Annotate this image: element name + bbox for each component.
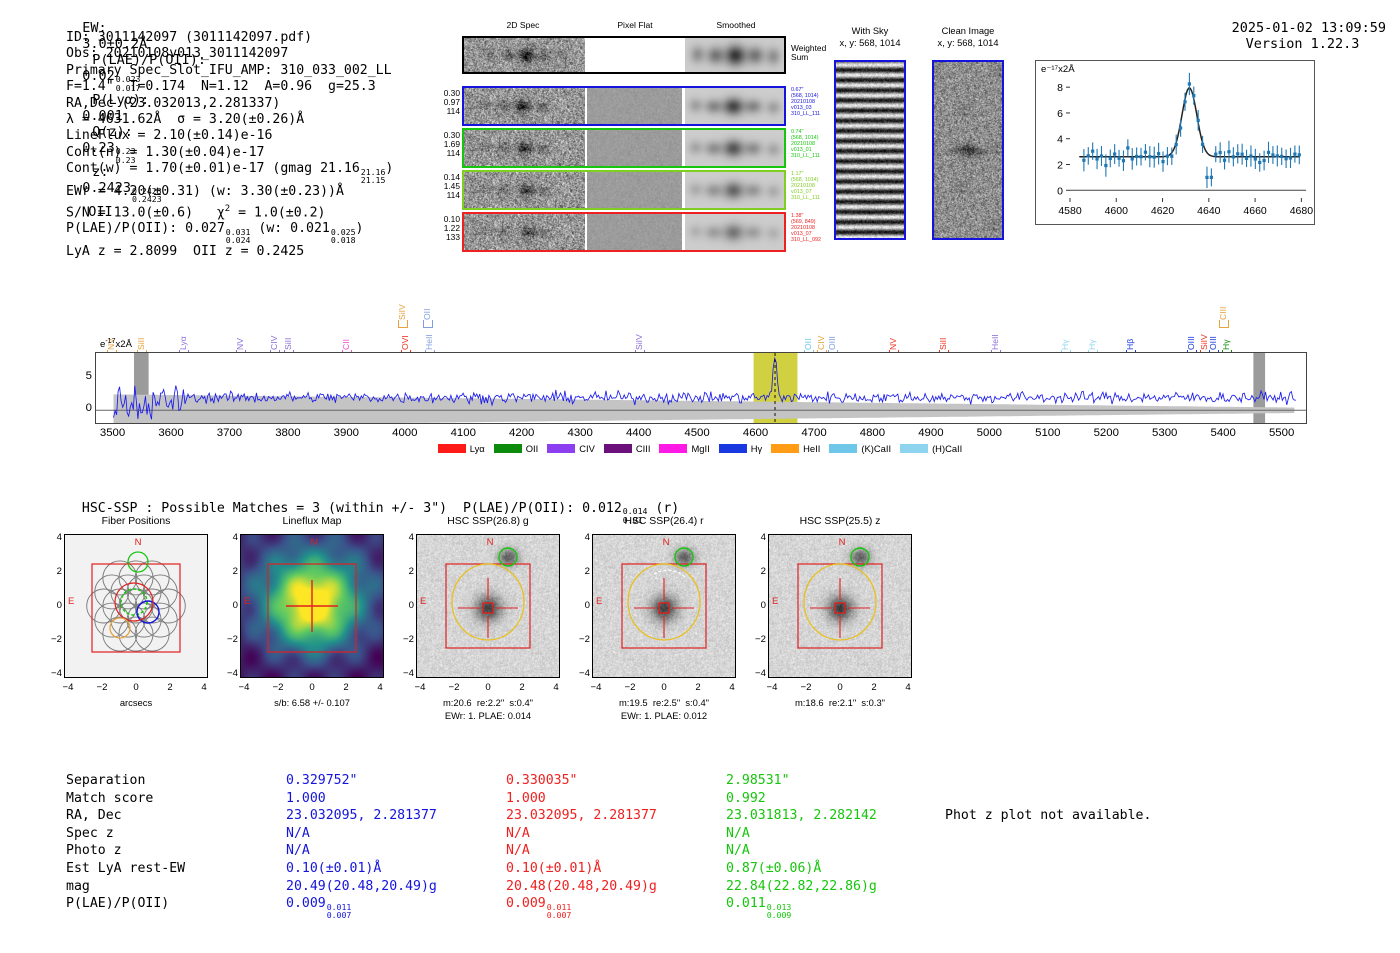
line-marker-label: SiIV [634,308,644,350]
datetime: 2025-01-02 13:09:59 [1232,20,1386,36]
cutout-title: Clean Image x, y: 568, 1014 [938,26,999,49]
spec2d-fiber-2dspec [464,214,585,250]
legend-item: CIV [547,443,595,454]
line-marker-label: Lyα [178,308,188,350]
spectrum-x-tick: 3500 [100,427,125,439]
spectrum-legend: LyαOIICIVCIIIMgIIHγHeII(K)CaII(H)CaII [0,443,1400,454]
svg-text:0: 0 [1057,185,1063,197]
thumbnail-y-tick: 2 [400,566,414,577]
spec2d-fiber-left-label: 0.30 0.97 114 [412,89,460,117]
thumbnail-y-tick: 2 [48,566,62,577]
table-row-label: Match score [66,790,153,808]
table-cell: 0.992 [726,790,766,808]
spectrum-x-tick: 5000 [977,427,1002,439]
spec2d-fiber-info-label: 0.74" (568, 1014) 20210108 v013_01 310_L… [791,129,820,159]
compass-east-label: E [596,596,602,607]
thumbnail-x-tick: −4 [767,682,778,693]
spec2d-fiber-left-label: 0.14 1.45 114 [412,173,460,201]
thumbnail-y-tick: −2 [752,634,766,645]
spec2d-panel-group: 2D SpecPixel FlatSmoothedWeighted Sum0.3… [438,32,783,247]
emission-line-fit-plot: e⁻¹⁷x2Å 02468458046004620464046604680 [1035,60,1315,225]
thumbnail-y-tick: 2 [224,566,238,577]
thumbnail-y-tick: 0 [576,600,590,611]
thumbnail-x-tick: 4 [729,682,734,693]
spec2d-fiber-pixelflat [587,88,682,124]
thumbnail-x-tick: −2 [801,682,812,693]
legend-item: Lyα [438,443,485,454]
table-row-label: RA, Dec [66,807,122,825]
info-lambda-sigma: λ = 4631.62Å σ = 3.20(±0.26)Å [66,112,393,128]
plae-value: 0.011 [726,896,766,911]
thumbnail-x-tick: 0 [133,682,138,693]
spec2d-fiber-row [462,128,786,168]
spec2d-fiber-info-label: 0.67" (568, 1014) 20210108 v013_03 310_L… [791,87,820,117]
line-marker-label: OIII [827,308,837,350]
info-ewr: EWr = 4.20(±0.31) (w: 3.30(±0.23))Å [66,184,393,200]
compass-east-label: E [244,596,250,607]
table-cell-plae: 0.0090.0110.007 [506,895,571,919]
spec2d-fiber-pixelflat [587,172,682,208]
svg-text:4: 4 [1057,134,1063,146]
thumbnail-y-tick: −2 [576,634,590,645]
table-row-label: P(LAE)/P(OII) [66,895,169,913]
table-cell: 2.98531" [726,772,790,790]
spec2d-fiber-left-label: 0.30 1.69 114 [412,131,460,159]
spectrum-x-tick: 4500 [684,427,709,439]
thumbnail-x-tick: −2 [97,682,108,693]
plae-errors: 0.0110.007 [547,903,572,919]
legend-swatch [438,444,466,453]
detection-info-block: ID: 3011142097 (3011142097.pdf) Obs: 202… [66,30,393,261]
spectrum-x-tick: 3800 [275,427,300,439]
spec2d-fiber-row [462,86,786,126]
thumbnail-title: Lineflux Map [283,516,342,527]
legend-item: Hγ [719,443,762,454]
plae-value: 0.009 [286,896,326,911]
spec2d-column-title: 2D Spec [507,20,540,30]
spectrum-x-tick: 4400 [626,427,651,439]
spectrum-y-tick: 0 [78,402,92,414]
spectrum-x-tick: 5400 [1210,427,1235,439]
thumbnail-x-tick: −4 [591,682,602,693]
table-cell: N/A [726,825,750,843]
table-cell: 20.49(20.48,20.49)g [286,878,437,896]
thumbnail-title: Fiber Positions [102,516,171,527]
spectrum-x-tick: 3900 [334,427,359,439]
thumbnail-x-tick: 4 [377,682,382,693]
spectrum-x-tick: 4200 [509,427,534,439]
line-marker-label: SiII [938,308,948,350]
table-cell-plae: 0.0090.0110.007 [286,895,351,919]
line-marker-label: Hγ [1221,308,1231,350]
compass-north-label: N [663,537,670,548]
plae-errors: 0.0110.007 [327,903,352,919]
thumbnail-x-tick: 2 [167,682,172,693]
table-cell: 0.10(±0.01)Å [286,860,381,878]
spectrum-x-tick: 4000 [392,427,417,439]
info-plae: P(LAE)/P(OII): 0.0270.0310.024 (w: 0.021… [66,221,393,244]
info-plae-errors: 0.0310.024 [226,228,251,244]
line-marker-label: CII [341,308,351,350]
info-seeing: F=1.4" T=0.174 N=1.12 A=0.96 g=25.3 [66,79,393,95]
thumbnail-y-tick: −4 [48,668,62,679]
thumbnail-y-tick: 4 [48,532,62,543]
svg-text:8: 8 [1057,82,1063,94]
compass-east-label: E [772,596,778,607]
thumbnail-caption: m:19.5 re:2.5" s:0.4" EWr: 1. PLAE: 0.01… [619,697,709,722]
thumbnail-x-tick: −2 [449,682,460,693]
table-cell: 23.032095, 2.281377 [506,807,657,825]
info-primary-spec: Primary Spec_Slot_IFU_AMP: 310_033_002_L… [66,63,393,79]
line-marker-label: OII [803,308,813,350]
legend-label: Lyα [470,443,485,454]
thumbnail-y-tick: 4 [400,532,414,543]
spectrum-x-tick: 3600 [158,427,183,439]
info-sn-chi2: S/N = 13.0(±0.6) χ2 = 1.0(±0.2) [66,201,393,222]
thumbnail-y-tick: −2 [224,634,238,645]
thumbnail-image[interactable] [240,534,384,678]
table-row-label: Est LyA rest-EW [66,860,185,878]
line-marker-label: SiII [136,308,146,350]
thumbnail-image[interactable] [416,534,560,678]
table-cell: 0.87(±0.06)Å [726,860,821,878]
line-marker-label: NV [235,308,245,350]
table-cell: N/A [506,825,530,843]
line-marker-label: Hγ [1087,308,1097,350]
thumbnail-x-tick: −2 [625,682,636,693]
info-radec: RA,Dec (23.032013,2.281337) [66,96,393,112]
thumbnail-x-tick: 4 [905,682,910,693]
thumbnail-y-tick: 0 [48,600,62,611]
line-marker-label: SiIV [397,278,407,320]
spec2d-column-title: Pixel Flat [617,20,652,30]
svg-text:4600: 4600 [1105,205,1129,217]
thumbnail-x-tick: −4 [63,682,74,693]
spectrum-y-tick: 5 [78,370,92,382]
spectrum-x-tick: 5500 [1269,427,1294,439]
spectrum-x-tick: 3700 [217,427,242,439]
thumbnail-y-tick: 2 [576,566,590,577]
spectrum-x-tick: 5100 [1035,427,1060,439]
thumbnail-y-tick: −4 [224,668,238,679]
thumbnail-x-tick: 0 [661,682,666,693]
legend-label: (H)CaII [932,443,962,454]
info-plae-w-errors: 0.0250.018 [331,228,356,244]
thumbnail-x-tick: 4 [553,682,558,693]
spec2d-column-title: Smoothed [716,20,755,30]
table-cell: 0.329752" [286,772,357,790]
table-cell: 0.10(±0.01)Å [506,860,601,878]
table-cell-plae: 0.0110.0130.009 [726,895,791,919]
info-lineflux: LineFlux = 2.10(±0.14)e-16 [66,128,393,144]
thumbnail-y-tick: −4 [752,668,766,679]
table-row-label: Photo z [66,842,122,860]
table-cell: 1.000 [506,790,546,808]
plae-value: 0.009 [506,896,546,911]
version: Version 1.22.3 [1246,36,1360,52]
hsc-header-text: HSC-SSP : Possible Matches = 3 (within +… [82,501,622,516]
svg-text:4580: 4580 [1058,205,1082,217]
thumbnail-x-tick: −4 [239,682,250,693]
cutout-with-sky [834,60,906,240]
phot-z-note: Phot z plot not available. [945,808,1151,823]
thumbnail-title: HSC SSP(26.8) g [447,516,528,527]
legend-item: CIII [604,443,651,454]
thumbnail-x-tick: 2 [519,682,524,693]
legend-swatch [829,444,857,453]
info-continuum-wide: Cont(w) = 1.70(±0.01)e-17 (gmag 21.1621.… [66,161,393,184]
thumbnail-y-tick: 0 [400,600,414,611]
thumbnail-caption: m:20.6 re:2.2" s:0.4" EWr: 1. PLAE: 0.01… [443,697,533,722]
spectrum-unit-label: e-17x2Å [100,338,132,350]
table-row-label: Spec z [66,825,114,843]
header-timestamp-version: 2025-01-02 13:09:59 Version 1.22.3 [1215,4,1386,52]
spectrum-x-tick: 4800 [860,427,885,439]
thumbnail-x-tick: 2 [343,682,348,693]
line-marker-label: HeII [990,308,1000,350]
legend-item: MgII [659,443,709,454]
line-marker-label: HeII [424,308,434,350]
legend-swatch [494,444,522,453]
cutout-title: With Sky x, y: 568, 1014 [840,26,901,49]
compass-east-label: E [420,596,426,607]
legend-item: (K)CaII [829,443,891,454]
spectrum-x-tick: 4900 [918,427,943,439]
thumbnail-x-tick: 0 [485,682,490,693]
compass-north-label: N [487,537,494,548]
thumbnail-image[interactable] [768,534,912,678]
legend-swatch [771,444,799,453]
legend-item: OII [494,443,539,454]
spec2d-fiber-left-label: 0.10 1.22 133 [412,215,460,243]
thumbnail-x-tick: 0 [837,682,842,693]
thumbnail-y-tick: 2 [752,566,766,577]
info-id: ID: 3011142097 (3011142097.pdf) [66,30,393,46]
plae-errors: 0.0130.009 [767,903,792,919]
spec2d-fiber-2dspec [464,172,585,208]
spec2d-fiber-smoothed [685,214,784,250]
svg-text:2: 2 [1057,159,1063,171]
spec2d-fiber-smoothed [685,88,784,124]
spec2d-fiber-row [462,170,786,210]
spec2d-fiber-pixelflat [587,130,682,166]
thumbnail-y-tick: 4 [576,532,590,543]
legend-item: HeII [771,443,820,454]
legend-label: CIII [636,443,651,454]
table-cell: N/A [286,842,310,860]
thumbnail-y-tick: −4 [576,668,590,679]
full-spectrum-plot [95,352,1307,424]
spec2d-weighted-sum-row [462,36,786,74]
table-row-label: Separation [66,772,145,790]
thumbnail-x-tick: 2 [695,682,700,693]
legend-label: OII [526,443,539,454]
thumbnail-x-tick: −2 [273,682,284,693]
thumbnail-y-tick: 0 [752,600,766,611]
thumbnail-y-tick: 0 [224,600,238,611]
thumbnail-caption: s/b: 6.58 +/- 0.107 [274,697,350,710]
legend-swatch [719,444,747,453]
info-redshifts: LyA z = 2.8099 OII z = 0.2425 [66,244,393,260]
cutout-clean-image [932,60,1004,240]
compass-north-label: N [839,537,846,548]
table-cell: 22.84(22.82,22.86)g [726,878,877,896]
line-marker-label: CIV [816,308,826,350]
line-marker-label: OIII [1186,308,1196,350]
table-cell: 23.032095, 2.281377 [286,807,437,825]
spec2d-weighted-pixelflat [587,38,682,72]
thumbnail-y-tick: 4 [224,532,238,543]
line-marker-label: OIII [1208,308,1218,350]
svg-text:6: 6 [1057,108,1063,120]
table-cell: 20.48(20.48,20.49)g [506,878,657,896]
table-cell: 1.000 [286,790,326,808]
spectrum-x-tick: 4100 [451,427,476,439]
legend-swatch [900,444,928,453]
compass-east-label: E [68,596,74,607]
spec2d-weighted-smoothed [685,38,784,72]
thumbnail-caption: arcsecs [120,697,152,710]
legend-label: HeII [803,443,820,454]
line-marker-label: CIV [269,308,279,350]
thumbnail-caption: m:18.6 re:2.1" s:0.3" [795,697,885,710]
thumbnail-y-tick: −2 [48,634,62,645]
legend-item: (H)CaII [900,443,962,454]
line-marker-label: Hγ [1060,308,1070,350]
spec2d-fiber-info-label: 1.17" (568, 1014) 20210108 v013_07 310_L… [791,171,820,201]
thumbnail-title: HSC SSP(26.4) r [624,516,703,527]
line-marker-label: SiII [283,308,293,350]
thumbnail-y-tick: −2 [400,634,414,645]
legend-label: MgII [691,443,709,454]
table-cell: 0.330035" [506,772,577,790]
line-marker-label: NV [888,308,898,350]
spec2d-fiber-2dspec [464,88,585,124]
spec2d-weighted-2dspec [464,38,585,72]
spec2d-weighted-sum-label: Weighted Sum [791,44,826,63]
legend-swatch [604,444,632,453]
thumbnail-x-tick: 2 [871,682,876,693]
svg-text:4640: 4640 [1197,205,1221,217]
legend-label: CIV [579,443,595,454]
table-cell: N/A [726,842,750,860]
spectrum-x-tick: 5200 [1094,427,1119,439]
table-row-label: mag [66,878,90,896]
thumbnail-y-tick: −4 [400,668,414,679]
thumbnail-x-tick: 4 [201,682,206,693]
spec2d-fiber-info-label: 1.38" (569, 849) 20210108 v013_07 310_LL… [791,213,821,243]
spec2d-fiber-row [462,212,786,252]
svg-text:4620: 4620 [1151,205,1175,217]
spectrum-x-tick: 4300 [567,427,592,439]
legend-label: Hγ [751,443,762,454]
table-cell: 23.031813, 2.282142 [726,807,877,825]
compass-north-label: N [311,537,318,548]
spec2d-fiber-pixelflat [587,214,682,250]
hsc-header-filter: (r) [647,501,679,516]
legend-swatch [547,444,575,453]
thumbnail-y-tick: 4 [752,532,766,543]
info-obs: Obs: 20210108v013_3011142097 [66,46,393,62]
spectrum-x-tick: 4600 [743,427,768,439]
spec2d-fiber-smoothed [685,172,784,208]
info-continuum-narrow: Cont(n) = 1.30(±0.04)e-17 [66,145,393,161]
spec2d-fiber-smoothed [685,130,784,166]
svg-text:4680: 4680 [1290,205,1314,217]
line-marker-label: Hβ [1125,308,1135,350]
spec2d-fiber-2dspec [464,130,585,166]
gmag-errors: 21.1621.15 [361,168,386,184]
spectrum-x-tick: 5300 [1152,427,1177,439]
table-cell: N/A [506,842,530,860]
legend-swatch [659,444,687,453]
table-cell: N/A [286,825,310,843]
svg-text:4660: 4660 [1243,205,1267,217]
thumbnail-image[interactable] [64,534,208,678]
thumbnail-title: HSC SSP(25.5) z [800,516,881,527]
line-marker-bracket [398,320,408,328]
thumbnail-x-tick: −4 [415,682,426,693]
thumbnail-x-tick: 0 [309,682,314,693]
spectrum-x-tick: 4700 [801,427,826,439]
thumbnail-image[interactable] [592,534,736,678]
compass-north-label: N [135,537,142,548]
legend-label: (K)CaII [861,443,891,454]
